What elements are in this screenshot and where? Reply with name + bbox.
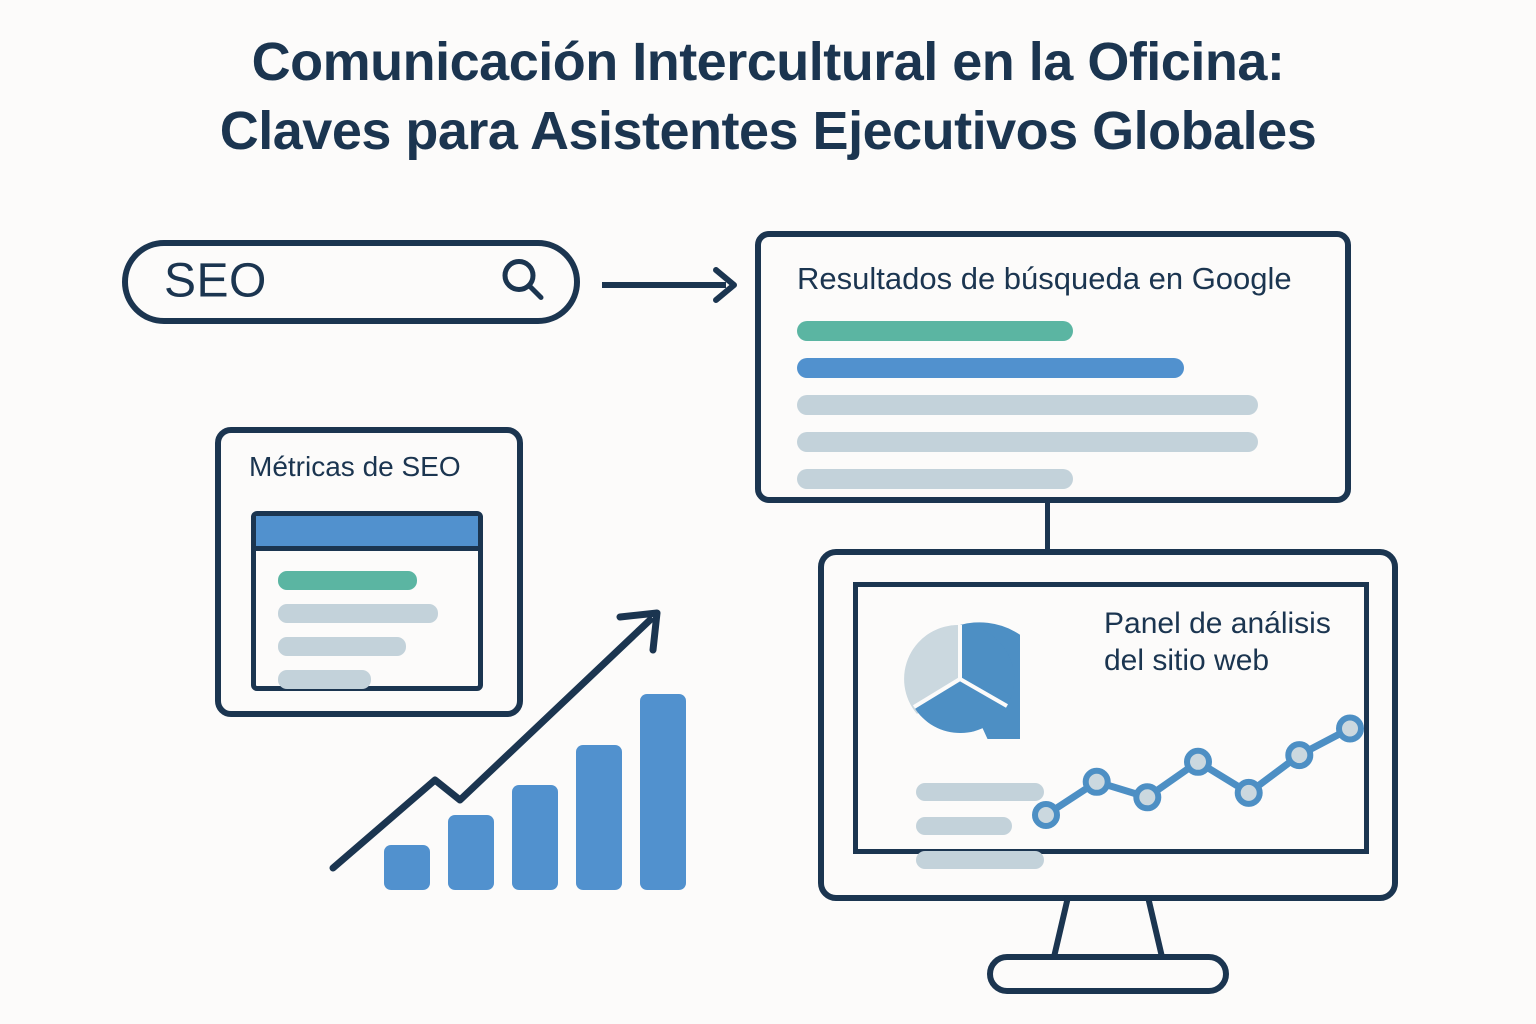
list-item xyxy=(797,395,1258,415)
page-title: Comunicación Intercultural en la Oficina… xyxy=(0,28,1536,166)
search-results-card: Resultados de búsqueda en Google xyxy=(755,231,1351,503)
page-title-line-2: Claves para Asistentes Ejecutivos Global… xyxy=(0,97,1536,166)
search-bar[interactable]: SEO xyxy=(122,240,580,324)
data-point-marker xyxy=(1187,751,1209,773)
search-icon[interactable] xyxy=(498,255,548,310)
bar-column xyxy=(576,745,622,890)
bar-column xyxy=(384,845,430,890)
infographic-canvas: Comunicación Intercultural en la Oficina… xyxy=(0,0,1536,1024)
list-item xyxy=(916,817,1012,835)
dashboard-screen: Panel de análisis del sitio web xyxy=(853,582,1369,854)
search-results-list xyxy=(797,321,1327,506)
data-point-marker xyxy=(1339,718,1361,740)
right-arrow-icon xyxy=(600,262,745,313)
monitor-stand xyxy=(818,895,1398,1005)
data-point-marker xyxy=(1136,786,1158,808)
list-item xyxy=(797,321,1073,341)
search-input-value[interactable]: SEO xyxy=(164,253,267,308)
growth-arrow-icon xyxy=(320,595,680,895)
seo-metrics-title: Métricas de SEO xyxy=(249,451,461,483)
line-chart xyxy=(1030,699,1366,849)
data-point-marker xyxy=(1238,782,1260,804)
list-item xyxy=(797,358,1184,378)
browser-window-titlebar xyxy=(256,516,478,551)
dashboard-title-line-2: del sitio web xyxy=(1104,642,1331,679)
data-point-marker xyxy=(1035,804,1057,826)
list-item xyxy=(797,432,1258,452)
list-item xyxy=(797,469,1073,489)
pie-chart-icon xyxy=(900,619,1020,739)
page-title-line-1: Comunicación Intercultural en la Oficina… xyxy=(0,28,1536,97)
list-item xyxy=(916,851,1044,869)
data-point-marker xyxy=(1288,744,1310,766)
connector-line xyxy=(1045,500,1050,552)
bar-column xyxy=(512,785,558,890)
dashboard-metric-list xyxy=(916,783,1044,885)
bar-column xyxy=(640,694,686,890)
dashboard-title-line-1: Panel de análisis xyxy=(1104,605,1331,642)
search-results-title: Resultados de búsqueda en Google xyxy=(797,261,1292,297)
dashboard-title: Panel de análisis del sitio web xyxy=(1104,605,1331,679)
monitor-frame: Panel de análisis del sitio web xyxy=(818,549,1398,901)
bar-column xyxy=(448,815,494,890)
list-item xyxy=(278,571,417,590)
data-point-marker xyxy=(1086,771,1108,793)
list-item xyxy=(916,783,1044,801)
